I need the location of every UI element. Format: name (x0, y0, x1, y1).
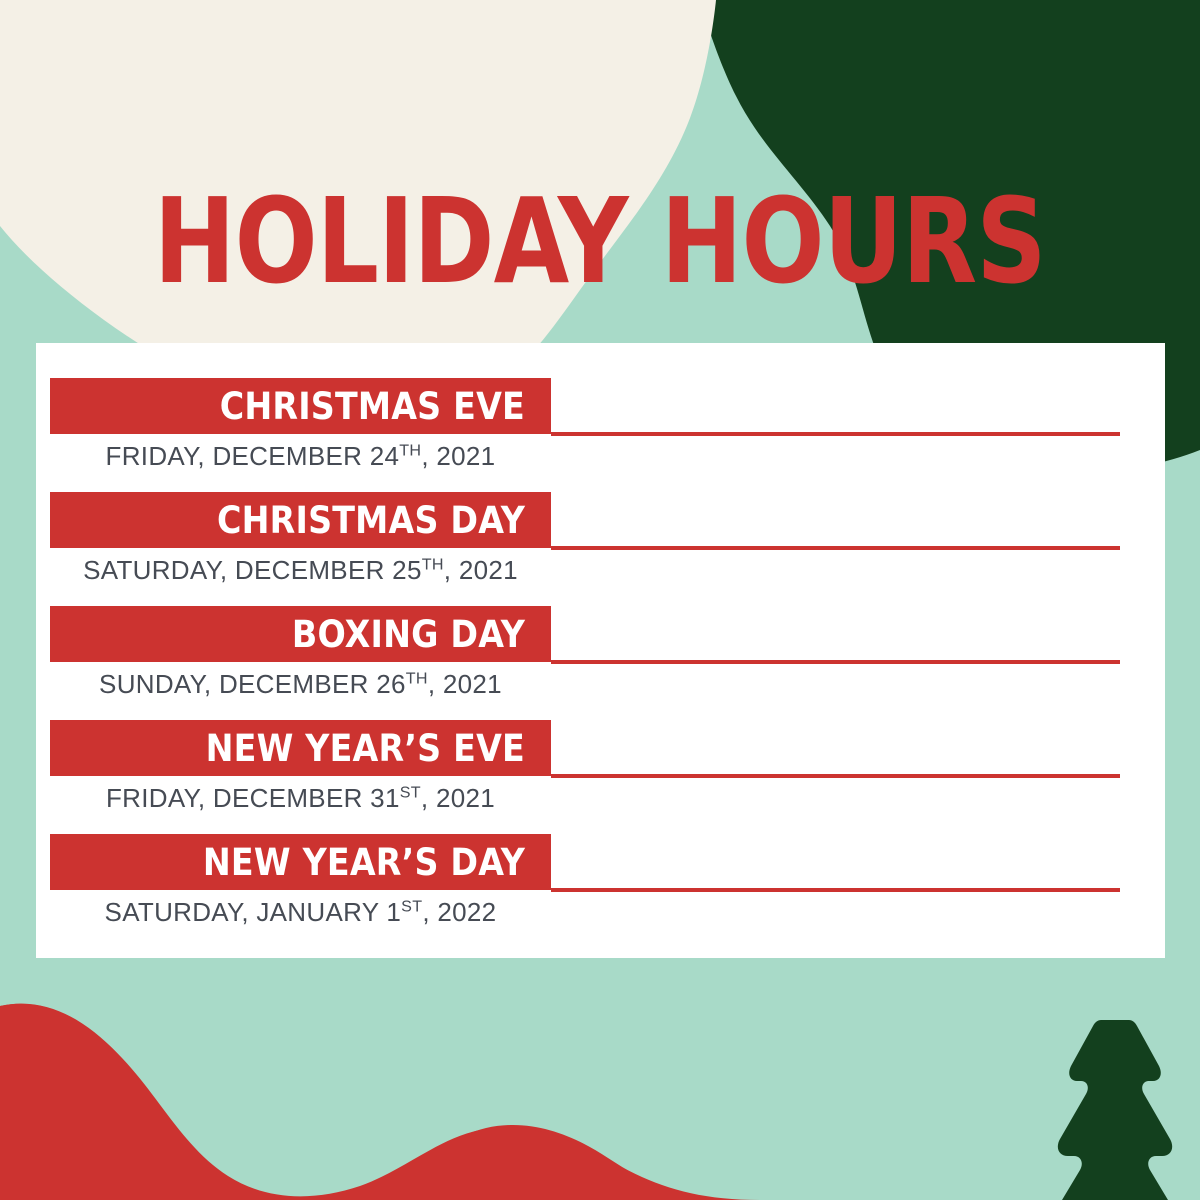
holiday-name: CHRISTMAS EVE (220, 388, 525, 425)
holiday-date-ordinal: TH (422, 555, 444, 573)
hours-rule (551, 888, 1120, 892)
page-title-wrap: HOLIDAY HOURS (0, 182, 1200, 300)
schedule-row: NEW YEAR’S EVE FRIDAY, DECEMBER 31ST, 20… (36, 713, 1165, 827)
holiday-date-year: , 2021 (421, 783, 495, 813)
schedule-row: BOXING DAY SUNDAY, DECEMBER 26TH, 2021 (36, 599, 1165, 713)
holiday-date-main: SATURDAY, JANUARY 1 (105, 897, 402, 927)
holiday-date: SATURDAY, JANUARY 1ST, 2022 (50, 899, 551, 925)
holiday-name: NEW YEAR’S DAY (203, 844, 525, 881)
holiday-banner: CHRISTMAS DAY (50, 492, 551, 548)
red-wave-fill (0, 1004, 760, 1200)
hours-rule (551, 432, 1120, 436)
christmas-tree-icon (1047, 1020, 1182, 1200)
holiday-banner: BOXING DAY (50, 606, 551, 662)
holiday-date-ordinal: ST (401, 897, 422, 915)
schedule-list: CHRISTMAS EVE FRIDAY, DECEMBER 24TH, 202… (36, 343, 1165, 958)
hours-rule (551, 774, 1120, 778)
holiday-date-main: SUNDAY, DECEMBER 26 (99, 669, 406, 699)
schedule-row: CHRISTMAS EVE FRIDAY, DECEMBER 24TH, 202… (36, 371, 1165, 485)
holiday-date: SATURDAY, DECEMBER 25TH, 2021 (50, 557, 551, 583)
holiday-name: NEW YEAR’S EVE (206, 730, 525, 767)
holiday-date-main: FRIDAY, DECEMBER 24 (106, 441, 400, 471)
holiday-date-year: , 2021 (428, 669, 502, 699)
holiday-banner: NEW YEAR’S EVE (50, 720, 551, 776)
red-wave-icon (0, 1004, 716, 1200)
holiday-date: FRIDAY, DECEMBER 24TH, 2021 (50, 443, 551, 469)
holiday-name: BOXING DAY (292, 616, 525, 653)
holiday-date: SUNDAY, DECEMBER 26TH, 2021 (50, 671, 551, 697)
holiday-date-year: , 2022 (422, 897, 496, 927)
holiday-banner: NEW YEAR’S DAY (50, 834, 551, 890)
holiday-date-year: , 2021 (444, 555, 518, 585)
hours-rule (551, 660, 1120, 664)
holiday-banner: CHRISTMAS EVE (50, 378, 551, 434)
schedule-row: CHRISTMAS DAY SATURDAY, DECEMBER 25TH, 2… (36, 485, 1165, 599)
holiday-date: FRIDAY, DECEMBER 31ST, 2021 (50, 785, 551, 811)
page-title: HOLIDAY HOURS (154, 182, 1046, 300)
holiday-date-year: , 2021 (421, 441, 495, 471)
holiday-name: CHRISTMAS DAY (217, 502, 525, 539)
schedule-card: CHRISTMAS EVE FRIDAY, DECEMBER 24TH, 202… (36, 343, 1165, 958)
schedule-row: NEW YEAR’S DAY SATURDAY, JANUARY 1ST, 20… (36, 827, 1165, 941)
holiday-hours-poster: HOLIDAY HOURS CHRISTMAS EVE FRIDAY, DECE… (0, 0, 1200, 1200)
holiday-date-main: FRIDAY, DECEMBER 31 (106, 783, 400, 813)
holiday-date-ordinal: TH (406, 669, 428, 687)
hours-rule (551, 546, 1120, 550)
holiday-date-main: SATURDAY, DECEMBER 25 (83, 555, 422, 585)
holiday-date-ordinal: TH (399, 441, 421, 459)
holiday-date-ordinal: ST (400, 783, 421, 801)
